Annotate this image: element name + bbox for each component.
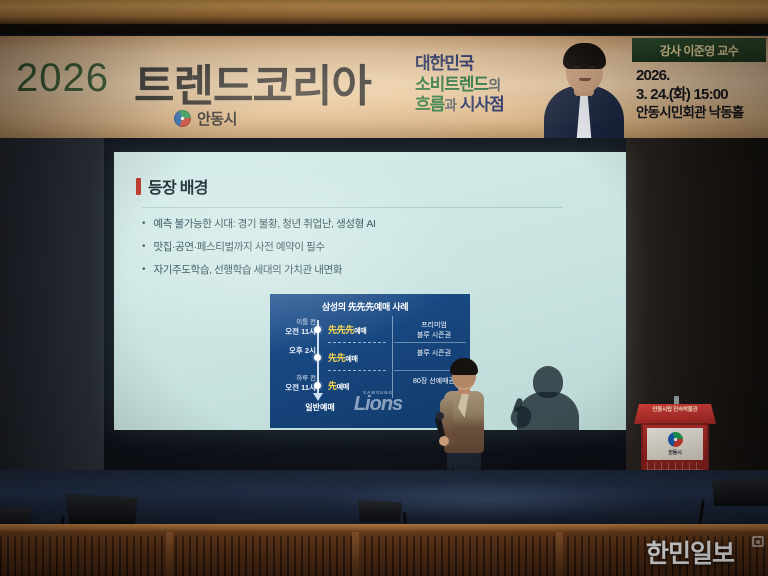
slide-bullet-item: • 자기주도학습, 선행학습 세대의 가치관 내면화 bbox=[142, 263, 562, 277]
banner-date-year: 2026. bbox=[636, 66, 766, 85]
wood-panel-divider bbox=[556, 532, 563, 576]
samsung-lions-logo-icon: SAMSUNG Lions bbox=[330, 380, 426, 422]
slide-title: 등장 배경 bbox=[148, 174, 208, 198]
portrait-eye-right bbox=[589, 66, 595, 68]
andong-city-logo-icon bbox=[668, 432, 683, 447]
banner-subtitle-line2-bold: 소비트렌드 bbox=[415, 75, 488, 94]
speaker-portrait bbox=[538, 36, 630, 140]
diagram-row-benefit-line2: 블루 시즌권 bbox=[400, 331, 468, 341]
banner-subtitle-line2-tail: 의 bbox=[488, 77, 500, 93]
diagram-row-time: 오후 2시 bbox=[276, 346, 316, 355]
stage-curtain-left bbox=[0, 138, 104, 518]
banner-city-name: 안동시 bbox=[197, 108, 237, 129]
diagram-row-stage-prefix: 先先 bbox=[328, 353, 345, 363]
podium-logo-panel: 안동시 bbox=[647, 428, 703, 460]
banner-main-title-group: 2026 트렌드코리아 안동시 bbox=[14, 52, 409, 124]
bullet-dot-icon: • bbox=[142, 263, 146, 277]
stage-monitor-speaker bbox=[712, 478, 768, 506]
banner-event-info: 2026. 3. 24.(화) 15:00 안동시민회관 낙동홀 bbox=[636, 66, 766, 122]
banner-speaker-name: 강사 이준영 교수 bbox=[660, 42, 739, 59]
stage-monitor-speaker bbox=[66, 494, 138, 524]
shadow-head bbox=[533, 366, 563, 398]
microphone-head-icon bbox=[436, 412, 444, 420]
diagram-dashed-separator bbox=[328, 342, 386, 343]
diagram-row-time-top: 이틀 전 bbox=[276, 318, 316, 327]
diagram-row-time: 하루 전 오전 11시 bbox=[276, 374, 316, 392]
diagram-row: 이틀 전 오전 11시 先先先예매 프리미엄 블루 시즌권 bbox=[270, 318, 470, 342]
slide-bullet-text: 맛집·공연·페스티벌까지 사전 예약이 필수 bbox=[154, 240, 325, 254]
slide-bullet-list: • 예측 불가능한 시대: 경기 불황, 청년 취업난, 생성형 AI • 맛집… bbox=[142, 207, 562, 286]
diagram-dashed-separator bbox=[328, 370, 386, 371]
wood-panel-divider bbox=[166, 532, 173, 576]
presenter-hair bbox=[450, 358, 478, 375]
slide-bullet-text: 자기주도학습, 선행학습 세대의 가치관 내면화 bbox=[154, 263, 343, 277]
camera-icon bbox=[752, 536, 764, 547]
banner-speaker-bar: 강사 이준영 교수 bbox=[632, 38, 766, 62]
diagram-row-time-bottom: 오전 11시 bbox=[276, 327, 316, 336]
slide-bullet-item: • 예측 불가능한 시대: 경기 불황, 청년 취업난, 생성형 AI bbox=[142, 217, 562, 231]
banner-subtitle-line3: 흐름과 시사점 bbox=[415, 95, 535, 116]
banner-subtitle-line3-b: 과 bbox=[444, 97, 456, 113]
diagram-node-dot-icon bbox=[314, 326, 321, 333]
diagram-row-time: 이틀 전 오전 11시 bbox=[276, 318, 316, 336]
diagram-row-benefit-line1: 프리미엄 bbox=[400, 321, 468, 331]
diagram-row-time-bottom: 오전 11시 bbox=[276, 383, 316, 392]
lions-logo-main-text: Lions bbox=[354, 395, 402, 413]
podium-logo-text: 안동시 bbox=[668, 449, 681, 456]
slide-accent-bar-icon bbox=[136, 178, 141, 195]
diagram-node-dot-icon bbox=[314, 354, 321, 361]
podium-top-text: 안동시립 민속박물관 bbox=[634, 407, 716, 413]
slide-bullet-text: 예측 불가능한 시대: 경기 불황, 청년 취업난, 생성형 AI bbox=[154, 217, 376, 231]
bullet-dot-icon: • bbox=[142, 240, 146, 254]
presenter-shadow-on-screen bbox=[509, 366, 591, 430]
diagram-row-stage: 先先예매 bbox=[328, 351, 358, 364]
banner-venue: 안동시민회관 낙동홀 bbox=[636, 104, 766, 121]
diagram-row-stage-prefix: 先先先 bbox=[328, 325, 354, 335]
banner-subtitle-group: 대한민국 소비트렌드의 흐름과 시사점 bbox=[415, 54, 535, 116]
diagram-node-dot-icon bbox=[314, 382, 321, 389]
ceiling-wood-trim bbox=[0, 0, 768, 26]
diagram-row-stage-suffix: 예매 bbox=[354, 328, 366, 335]
press-watermark: 한민일보 bbox=[646, 534, 734, 570]
portrait-eye-left bbox=[573, 66, 579, 68]
wood-panel-divider bbox=[352, 532, 359, 576]
banner-year: 2026 bbox=[16, 56, 109, 101]
shadow-arm bbox=[508, 403, 534, 430]
diagram-title: 삼성의 先先先예매 사례 bbox=[270, 300, 460, 313]
shadow-microphone-icon bbox=[513, 397, 524, 412]
banner-subtitle-line1: 대한민국 bbox=[415, 54, 535, 75]
projection-screen: 등장 배경 • 예측 불가능한 시대: 경기 불황, 청년 취업난, 생성형 A… bbox=[114, 152, 626, 430]
banner-subtitle-line3-a: 흐름 bbox=[415, 95, 444, 114]
andong-city-logo-icon bbox=[174, 110, 191, 127]
banner-subtitle-line3-c: 시사점 bbox=[460, 95, 504, 114]
diagram-row-benefit: 프리미엄 블루 시즌권 bbox=[400, 321, 468, 340]
portrait-mouth bbox=[579, 78, 591, 81]
presenter-hand bbox=[439, 436, 449, 446]
bullet-dot-icon: • bbox=[142, 217, 146, 231]
diagram-row-stage: 先先先예매 bbox=[328, 323, 366, 336]
banner-city-group: 안동시 bbox=[174, 108, 237, 129]
banner-date-day: 3. 24.(화) 15:00 bbox=[636, 85, 766, 104]
banner-title: 트렌드코리아 bbox=[134, 50, 371, 114]
banner-subtitle-line2: 소비트렌드의 bbox=[415, 75, 535, 96]
slide-bullet-item: • 맛집·공연·페스티벌까지 사전 예약이 필수 bbox=[142, 240, 562, 254]
diagram-row-time-bottom: 오후 2시 bbox=[276, 346, 316, 355]
stage-front-rail bbox=[0, 524, 768, 532]
diagram-row-time-top: 하루 전 bbox=[276, 374, 316, 383]
event-banner: 2026 트렌드코리아 안동시 대한민국 소비트렌드의 흐름과 시사점 bbox=[0, 36, 768, 140]
stage-monitor-speaker bbox=[358, 500, 402, 522]
portrait-hair bbox=[563, 43, 606, 69]
diagram-row-stage-suffix: 예매 bbox=[345, 356, 357, 363]
lecture-hall-photo: 2026 트렌드코리아 안동시 대한민국 소비트렌드의 흐름과 시사점 bbox=[0, 0, 768, 576]
shadow-body bbox=[517, 392, 579, 430]
slide-title-group: 등장 배경 bbox=[136, 174, 208, 198]
diagram-row-separator bbox=[394, 342, 466, 343]
